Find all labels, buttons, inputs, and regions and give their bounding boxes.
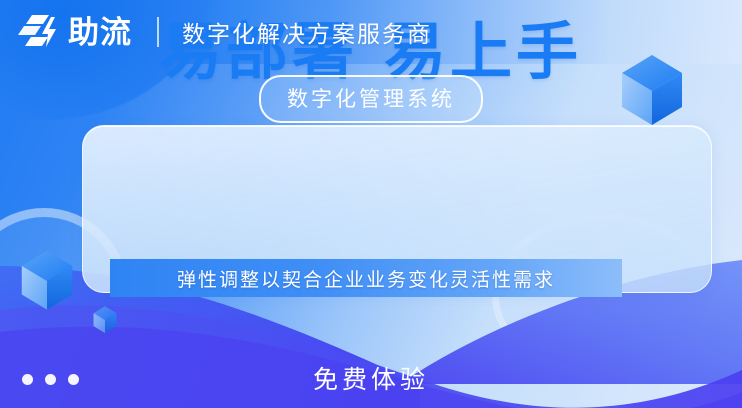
carousel-indicators[interactable] <box>22 374 79 385</box>
logo-wordmark: 助流 <box>68 17 132 48</box>
hero-subtitle-band: 弹性调整以契合企业业务变化灵活性需求 <box>110 259 622 297</box>
carousel-dot-2[interactable] <box>45 374 56 385</box>
cube-3d-icon <box>18 249 76 313</box>
free-trial-cta[interactable]: 免费体验 <box>0 360 742 396</box>
header-divider <box>157 17 159 47</box>
carousel-dot-1[interactable] <box>22 374 33 385</box>
hero-subtitle: 弹性调整以契合企业业务变化灵活性需求 <box>177 265 555 292</box>
banner-header: 助流 数字化解决方案服务商 <box>0 0 742 64</box>
header-tagline: 数字化解决方案服务商 <box>182 15 432 49</box>
carousel-dot-3[interactable] <box>68 374 79 385</box>
cube-3d-icon <box>92 305 118 335</box>
system-badge: 数字化管理系统 <box>259 75 483 123</box>
lightning-flow-logo-icon <box>18 12 62 52</box>
promo-banner: 助流 数字化解决方案服务商 数字化管理系统 易部署易上手 弹性调整以契合企业业务… <box>0 0 742 408</box>
